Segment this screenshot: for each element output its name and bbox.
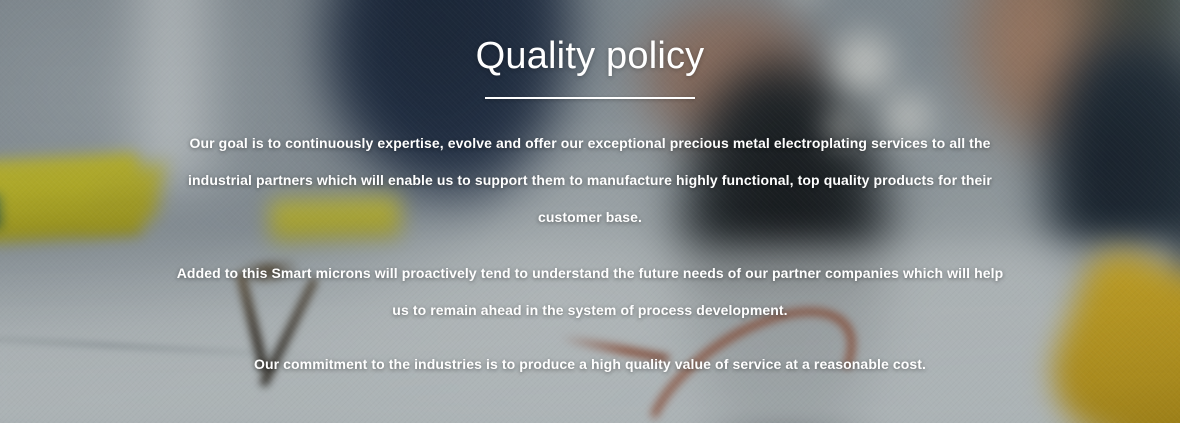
policy-paragraph: Added to this Smart microns will proacti… [175, 255, 1005, 329]
policy-body: Our goal is to continuously expertise, e… [175, 125, 1005, 383]
page-title: Quality policy [0, 30, 1180, 82]
policy-paragraph: Our commitment to the industries is to p… [175, 346, 1005, 383]
quality-policy-hero-banner: Quality policy Our goal is to continuous… [0, 0, 1180, 423]
policy-paragraph: Our goal is to continuously expertise, e… [175, 125, 1005, 236]
hero-content: Quality policy Our goal is to continuous… [0, 0, 1180, 423]
title-divider-rule [485, 97, 695, 99]
